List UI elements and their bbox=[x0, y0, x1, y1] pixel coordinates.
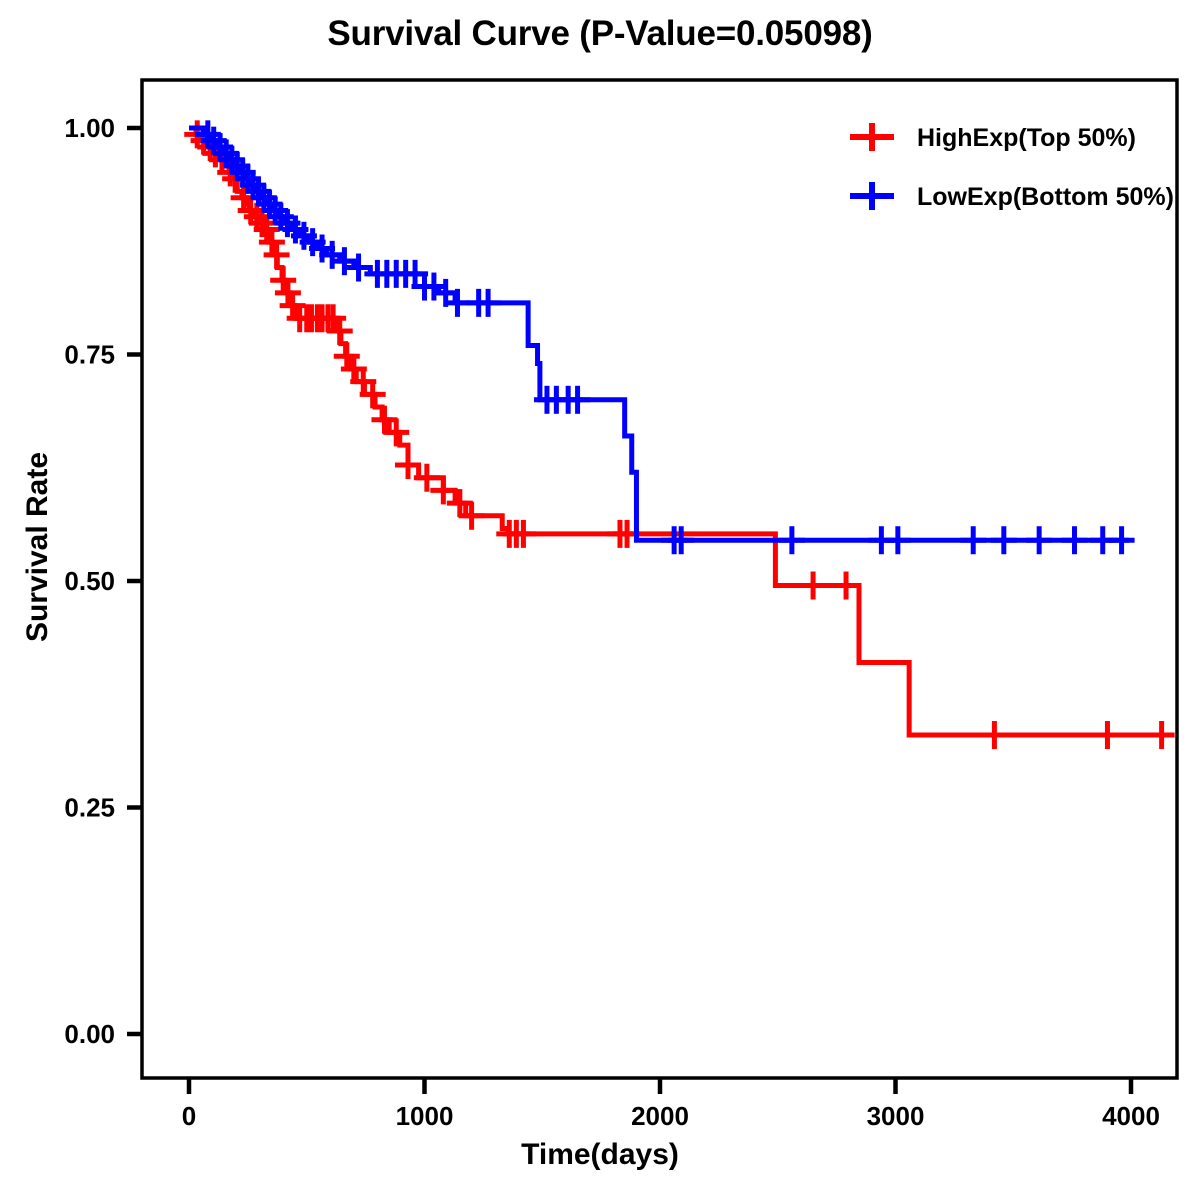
x-tick-label: 0 bbox=[182, 1101, 196, 1131]
censor-marks bbox=[184, 120, 1174, 749]
chart-legend: HighExp(Top 50%)LowExp(Bottom 50%) bbox=[850, 123, 1174, 211]
x-tick-label: 1000 bbox=[396, 1101, 454, 1131]
x-tick-label: 2000 bbox=[631, 1101, 689, 1131]
legend-entry[interactable]: LowExp(Bottom 50%) bbox=[850, 182, 1174, 211]
x-axis-ticks: 01000200030004000 bbox=[182, 1080, 1160, 1132]
plot-area: 01000200030004000 0.000.250.500.751.00 H… bbox=[0, 0, 1200, 1200]
y-tick-label: 0.75 bbox=[64, 340, 115, 370]
legend-label: HighExp(Top 50%) bbox=[917, 124, 1136, 152]
series-highexp bbox=[184, 120, 1174, 749]
x-tick-label: 4000 bbox=[1102, 1101, 1160, 1131]
x-tick-label: 3000 bbox=[867, 1101, 925, 1131]
y-tick-label: 0.00 bbox=[64, 1019, 115, 1049]
series-layer bbox=[184, 120, 1174, 749]
y-tick-label: 1.00 bbox=[64, 113, 115, 143]
y-axis-ticks: 0.000.250.500.751.00 bbox=[64, 113, 141, 1049]
legend-entry[interactable]: HighExp(Top 50%) bbox=[850, 123, 1136, 152]
legend-label: LowExp(Bottom 50%) bbox=[917, 183, 1174, 211]
survival-curve-figure: Survival Curve (P-Value=0.05098) Surviva… bbox=[0, 0, 1200, 1200]
y-tick-label: 0.50 bbox=[64, 566, 115, 596]
survival-step-line bbox=[189, 128, 1162, 735]
y-tick-label: 0.25 bbox=[64, 793, 115, 823]
